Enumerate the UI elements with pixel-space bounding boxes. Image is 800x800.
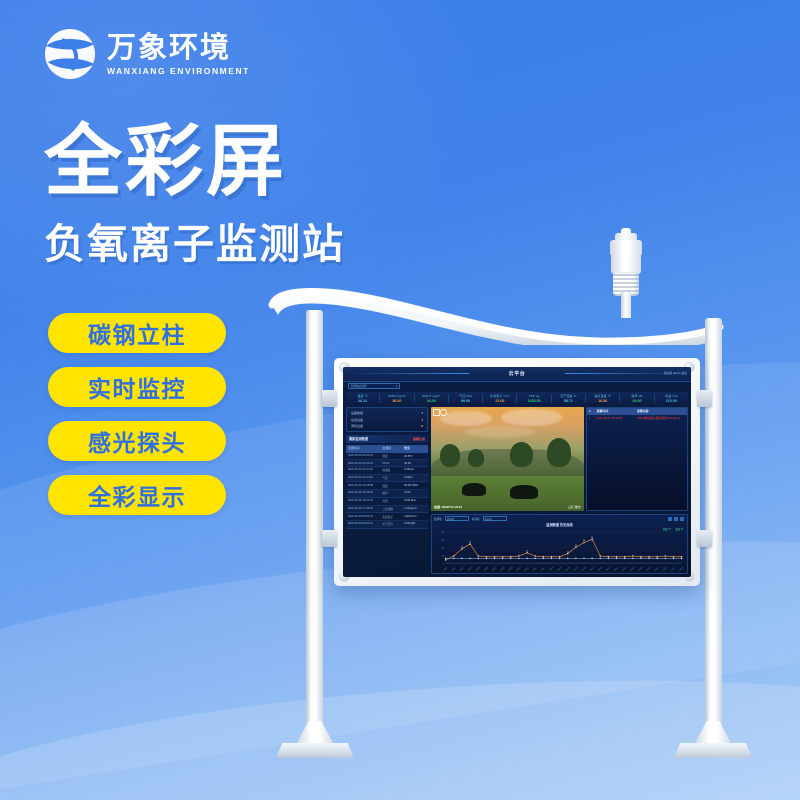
metric-label: 噪声 dB [620,394,653,398]
chart-action-icons[interactable] [668,517,684,521]
count-value: 0 [421,424,423,428]
svg-text:06-08: 06-08 [500,567,505,571]
metric-value: 1433.00 [517,399,550,403]
metric-label: PM10 ug/m³ [380,394,413,398]
headline-block: 全彩屏 负氧离子监测站 [44,124,345,270]
alarm-records-link[interactable]: 报警记录 [413,437,425,441]
svg-text:06-10: 06-10 [517,567,522,571]
svg-text:06-21: 06-21 [606,567,611,571]
alarm-row[interactable]: 1 2022-06-11 12:19:5a PM10数值超过报警阀值(350ug… [587,415,687,422]
metric-label: 空气湿度 % [552,394,585,398]
table-row[interactable]: 2022-06-09 04:02:10 大气压力 0.40mgB [346,521,428,529]
cell-time: 2022-06-09 09:10:12 [348,454,382,458]
cell-value: 0.38m/s [404,468,426,472]
chart-range-select[interactable]: 时间段 [483,516,507,521]
sphere-swoosh-logo-icon [42,26,98,82]
metric-label: 风速 m/s [655,394,688,398]
metric-cell: 空气湿度 % 58.71 [552,394,586,404]
svg-text:06-07: 06-07 [492,567,497,571]
metric-label: 负氧离子 /cm³ [483,394,516,398]
cell-time: 2022-06-09 15:00:25 [348,499,382,503]
cell-value: 59.00 %RH [404,484,426,488]
svg-text:06-25: 06-25 [639,567,644,571]
chart-title: 监测数据 历史曲线 [432,522,687,527]
cell-value: 1200.0lux [404,499,426,503]
refresh-icon[interactable] [440,409,447,416]
brand-text: 万象环境 WANXIANG ENVIRONMENT [107,33,250,76]
metric-label: 温度 ℃ [346,394,379,398]
chart-filter-label-right: 时间段 [472,517,480,521]
cloud [465,426,535,438]
svg-text:18: 18 [461,546,463,548]
svg-text:06-24: 06-24 [630,567,635,571]
svg-text:12: 12 [567,551,569,553]
brand-name-en: WANXIANG ENVIRONMENT [107,67,250,76]
video-timestamp: 拍摄: 2022/7/3 16:42 [434,505,462,509]
svg-text:06-01: 06-01 [443,567,448,571]
cell-value: 0.00pa [404,476,426,480]
alarm-time: 2022-06-11 12:19:5a [597,416,637,420]
cloud [440,411,492,426]
svg-text:06-26: 06-26 [647,567,652,571]
cell-item: 风速度 [382,468,404,472]
feature-pill-list: 碳钢立柱 实时监控 感光探头 全彩显示 [48,313,226,515]
metric-value: 44.00 [415,399,448,403]
cell-value: 0.40mgB [404,522,426,526]
metric-cell: PM10 ug/m³ 36.00 [380,394,414,404]
svg-text:06-15: 06-15 [557,567,562,571]
feature-pill: 实时监控 [48,367,226,407]
count-value: 1 [421,411,423,415]
cell-time: 2022-06-09 04:02:10 [348,522,382,526]
column-header: 数值 [404,446,426,450]
chart-metric-select[interactable]: 监测项 [445,516,469,521]
svg-text:06-30: 06-30 [679,567,684,571]
svg-text:06-12: 06-12 [533,567,538,571]
tree [440,444,460,467]
cell-time: 2022-06-09 15:08:28 [348,491,382,495]
base-flange [674,743,752,758]
pole-left [306,310,323,728]
table-row[interactable]: 2022-06-09 11:10:46 风速度 0.38m/s [346,467,428,475]
column-header: 报警时间 [597,409,637,413]
cell-time: 2022-06-09 11:10:22 [348,476,382,480]
history-chart-panel: 监测项 监测项 时间段 时间段 监测数据 历史曲线 温度 ℃ 湿度 % 0102… [431,514,688,575]
brand-logo: 万象环境 WANXIANG ENVIRONMENT [42,26,250,82]
svg-text:06-05: 06-05 [476,567,481,571]
mount-bracket [322,530,337,547]
table-row[interactable]: 2022-06-09 17:05:15 二氧化碳 1.00mg/m³ [346,506,428,514]
svg-text:20: 20 [575,544,577,546]
cell-item: 大气压力 [382,522,404,526]
metric-label: TSP ug [517,394,550,398]
chart-filter-label-left: 监测项 [434,517,442,521]
cell-time: 2022-06-09 09:10:12 [348,462,382,465]
metric-value: 110.00 [655,399,688,403]
cell-value: 26.8℃ [404,454,426,458]
screen-header: 云平台 欢迎您 admin 退出 [343,367,691,382]
svg-text:06-29: 06-29 [671,567,676,571]
station-select[interactable]: 监测站点选择 ▾ [348,383,400,389]
svg-text:06-03: 06-03 [460,567,465,571]
cell-value: 36.00 [404,462,426,465]
svg-text:06-16: 06-16 [565,567,570,571]
mount-bracket [322,390,337,407]
history-line-chart: 0102030401824131220263006-0106-0206-0306… [434,528,685,572]
count-value: 1 [421,418,423,422]
svg-text:10: 10 [442,555,445,557]
cell-value: 2.0hz [404,491,426,495]
cell-item: 气压 [382,476,404,480]
svg-text:24: 24 [469,541,471,543]
metric-cell: TSP ug 1433.00 [517,394,551,404]
cell-time: 2022-06-09 17:05:15 [348,507,382,511]
count-row: 离线设备 0 [351,424,423,428]
metric-cell: 温度 ℃ 26.12 [346,394,380,404]
product-poster: 万象环境 WANXIANG ENVIRONMENT 全彩屏 负氧离子监测站 碳钢… [0,0,800,800]
table-row[interactable]: 2022-06-09 09:10:12 温度 26.8℃ [346,453,428,461]
count-row: 设备数量 1 [351,411,423,415]
base-flange [276,743,354,758]
mount-bracket [697,390,712,407]
metrics-row: 温度 ℃ 26.12 PM10 ug/m³ 36.00 PM2.5 ug/m³ … [346,392,688,405]
metric-value: 16.50 [586,399,619,403]
display-monitor: 云平台 欢迎您 admin 退出 监测站点选择 ▾ 温度 ℃ 26.12 PM1… [334,358,700,586]
page-subtitle: 负氧离子监测站 [44,210,345,270]
table-header-row: 监测时间 监测项 数值 [346,445,428,453]
column-header: 监测时间 [348,446,382,450]
tree [547,438,571,467]
feature-pill: 碳钢立柱 [48,313,226,353]
cell-item: 光照 [382,499,404,503]
metric-value: 21.00 [483,399,516,403]
svg-text:06-18: 06-18 [582,567,587,571]
table-row[interactable]: 2022-06-09 15:00:25 光照 1200.0lux [346,498,428,506]
metric-label: PM2.5 ug/m³ [415,394,448,398]
count-label: 设备数量 [351,411,363,415]
video-site-label: 山东 潍坊 [568,505,581,509]
pole-right [705,318,722,728]
metric-value: 26.12 [346,399,379,403]
svg-text:06-23: 06-23 [622,567,627,571]
metric-value: 44.00 [620,399,653,403]
metric-label: 露点温度 ℃ [586,394,619,398]
table-row[interactable]: 2022-06-09 14:08:58 湿度 59.00 %RH [346,482,428,490]
alarm-index: 1 [589,416,597,420]
user-menu[interactable]: 欢迎您 admin 退出 [664,371,687,375]
svg-text:20: 20 [442,547,445,549]
svg-text:40: 40 [442,531,445,533]
svg-text:06-09: 06-09 [508,567,513,571]
records-table[interactable]: 监测时间 监测项 数值 2022-06-09 09:10:12 温度 26.8℃… [346,445,428,574]
metric-cell: PM2.5 ug/m³ 44.00 [415,394,449,404]
svg-text:30: 30 [442,539,445,541]
svg-text:06-22: 06-22 [614,567,619,571]
metric-label: 气压 kPa [449,394,482,398]
camera-feed[interactable]: 拍摄: 2022/7/3 16:42 山东 潍坊 [431,407,584,511]
main-panel: 拍摄: 2022/7/3 16:42 山东 潍坊 # 报警时间 报警内容 1 [431,407,688,574]
cell-time: 2022-06-09 14:08:58 [348,484,382,488]
table-row[interactable]: 2022-06-09 11:10:22 气压 0.00pa [346,475,428,483]
brand-name-cn: 万象环境 [107,33,250,62]
alarm-header-row: # 报警时间 报警内容 [587,408,687,415]
table-row[interactable]: 2022-06-09 08:04:10 负氧离子 1120n/cm³ [346,513,428,521]
cell-item: 噪声 [382,491,404,495]
column-header: 报警内容 [637,409,685,413]
count-row: 在线设备 1 [351,418,423,422]
mount-bracket [697,530,712,547]
station-select-value: 监测站点选择 [351,384,367,388]
cell-item: 负氧离子 [382,515,404,519]
cell-item: 温度 [382,454,404,458]
capture-icon[interactable] [433,409,440,416]
records-title: 最新监测数据 [349,436,368,441]
svg-text:06-13: 06-13 [541,567,546,571]
device-counts: 设备数量 1 在线设备 1 离线设备 0 [346,407,428,432]
base-plate-right [674,722,752,758]
screen-title: 云平台 [343,370,691,377]
metric-cell: 风速 m/s 110.00 [655,394,688,404]
sensor-lower-body [611,252,641,274]
sensor-neck [621,292,631,318]
cell-item: PM10 [382,462,404,465]
screen-body: 设备数量 1 在线设备 1 离线设备 0 最新监测数据 [346,407,688,574]
svg-text:06-27: 06-27 [655,567,660,571]
page-title: 全彩屏 [44,124,345,200]
tree [468,449,485,468]
svg-text:06-02: 06-02 [451,567,456,571]
metric-cell: 气压 kPa 99.00 [449,394,483,404]
svg-text:06-20: 06-20 [598,567,603,571]
svg-text:06-11: 06-11 [525,567,530,571]
column-header: # [589,409,597,413]
cell-item: 二氧化碳 [382,507,404,511]
svg-text:06-17: 06-17 [573,567,578,571]
svg-text:30: 30 [591,536,593,538]
weather-sensor-icon [604,226,648,318]
feature-pill: 感光探头 [48,421,226,461]
metric-value: 99.00 [449,399,482,403]
svg-text:06-04: 06-04 [468,567,473,571]
count-label: 在线设备 [351,418,363,422]
svg-text:06-19: 06-19 [590,567,595,571]
svg-text:06-06: 06-06 [484,567,489,571]
table-row[interactable]: 2022-06-09 15:08:28 噪声 2.0hz [346,490,428,498]
cell-item: 湿度 [382,484,404,488]
cow [462,483,486,497]
video-and-alarm-row: 拍摄: 2022/7/3 16:42 山东 潍坊 # 报警时间 报警内容 1 [431,407,688,511]
svg-text:13: 13 [526,550,528,552]
cloud [501,409,562,426]
svg-text:06-28: 06-28 [663,567,668,571]
curved-canopy [268,283,724,345]
metric-cell: 负氧离子 /cm³ 21.00 [483,394,517,404]
base-plate-left [276,722,354,758]
records-header: 最新监测数据 报警记录 [346,435,428,443]
alarm-panel[interactable]: # 报警时间 报警内容 1 2022-06-11 12:19:5a PM10数值… [586,407,688,511]
count-label: 离线设备 [351,424,363,428]
screen-ui: 云平台 欢迎您 admin 退出 监测站点选择 ▾ 温度 ℃ 26.12 PM1… [343,367,691,577]
cell-time: 2022-06-09 08:04:10 [348,515,382,519]
cell-value: 1120n/cm³ [404,515,426,519]
metric-cell: 噪声 dB 44.00 [620,394,654,404]
left-panel: 设备数量 1 在线设备 1 离线设备 0 最新监测数据 [346,407,428,574]
column-header: 监测项 [382,446,404,450]
metric-cell: 露点温度 ℃ 16.50 [586,394,620,404]
metric-value: 58.71 [552,399,585,403]
metric-value: 36.00 [380,399,413,403]
cell-value: 1.00mg/m³ [404,507,426,511]
cow [510,485,537,499]
feature-pill: 全彩显示 [48,475,226,515]
svg-text:26: 26 [583,540,585,542]
svg-text:0: 0 [443,563,445,565]
chevron-down-icon: ▾ [396,385,397,388]
cell-time: 2022-06-09 11:10:46 [348,468,382,472]
alarm-text: PM10数值超过报警阀值(350ug/m³) [637,416,685,420]
tree [510,442,533,467]
table-row[interactable]: 2022-06-09 09:10:12 PM10 36.00 [346,460,428,467]
svg-text:06-14: 06-14 [549,567,554,571]
